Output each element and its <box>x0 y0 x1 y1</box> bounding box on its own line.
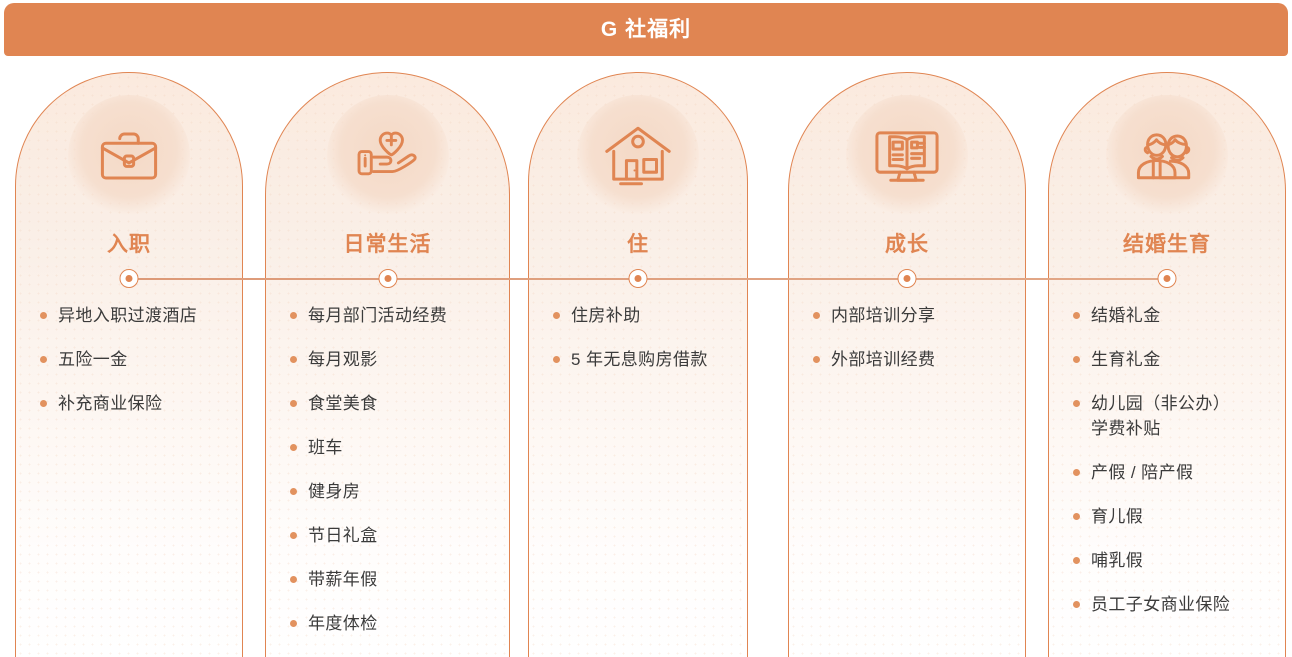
header-banner: G 社福利 <box>4 3 1288 56</box>
bullet-dot-icon <box>1073 356 1080 363</box>
bullet-dot-icon <box>290 576 297 583</box>
list-item: 补充商业保险 <box>36 391 228 416</box>
list-item-label: 年度体检 <box>308 611 378 636</box>
benefit-list-growth: 内部培训分享外部培训经费 <box>789 303 1025 391</box>
hand-heart-care-icon <box>327 95 449 217</box>
list-item-label: 员工子女商业保险 <box>1091 592 1230 617</box>
timeline-node-marriage-parenting <box>1158 269 1177 288</box>
benefit-columns: 入职异地入职过渡酒店五险一金补充商业保险 日常生活每月部门活动经费每月观影食堂美… <box>0 72 1292 657</box>
list-item: 产假 / 陪产假 <box>1069 460 1271 485</box>
page-title: G 社福利 <box>601 19 691 40</box>
bullet-dot-icon <box>553 356 560 363</box>
timeline-node-housing <box>629 269 648 288</box>
list-item: 员工子女商业保险 <box>1069 592 1271 617</box>
bullet-dot-icon <box>290 444 297 451</box>
list-item: 异地入职过渡酒店 <box>36 303 228 328</box>
list-item: 年度体检 <box>286 611 495 636</box>
list-item: 哺乳假 <box>1069 548 1271 573</box>
bullet-dot-icon <box>290 620 297 627</box>
list-item-label: 外部培训经费 <box>831 347 935 372</box>
list-item: 5 年无息购房借款 <box>549 347 733 372</box>
list-item: 节日礼盒 <box>286 523 495 548</box>
list-item-label: 每月观影 <box>308 347 378 372</box>
timeline-connector <box>129 278 1167 280</box>
list-item: 生育礼金 <box>1069 347 1271 372</box>
column-title-growth: 成长 <box>789 228 1025 258</box>
benefit-list-onboarding: 异地入职过渡酒店五险一金补充商业保险 <box>16 303 242 435</box>
bullet-dot-icon <box>1073 601 1080 608</box>
bullet-dot-icon <box>40 312 47 319</box>
timeline-node-onboarding <box>120 269 139 288</box>
list-item: 每月部门活动经费 <box>286 303 495 328</box>
list-item: 外部培训经费 <box>809 347 1011 372</box>
benefit-column-daily-life: 日常生活每月部门活动经费每月观影食堂美食班车健身房节日礼盒带薪年假年度体检 <box>265 72 510 657</box>
benefit-list-housing: 住房补助5 年无息购房借款 <box>529 303 747 391</box>
list-item-label: 食堂美食 <box>308 391 378 416</box>
bullet-dot-icon <box>553 312 560 319</box>
benefit-column-onboarding: 入职异地入职过渡酒店五险一金补充商业保险 <box>15 72 243 657</box>
bullet-dot-icon <box>40 400 47 407</box>
timeline-node-core <box>126 275 133 282</box>
bullet-dot-icon <box>813 356 820 363</box>
bullet-dot-icon <box>290 356 297 363</box>
list-item: 内部培训分享 <box>809 303 1011 328</box>
book-monitor-icon <box>846 95 968 217</box>
bullet-dot-icon <box>1073 513 1080 520</box>
timeline-node-daily-life <box>378 269 397 288</box>
list-item-label: 结婚礼金 <box>1091 303 1161 328</box>
timeline-node-core <box>635 275 642 282</box>
bullet-dot-icon <box>290 532 297 539</box>
list-item-label: 住房补助 <box>571 303 641 328</box>
bullet-dot-icon <box>813 312 820 319</box>
list-item-label: 异地入职过渡酒店 <box>58 303 197 328</box>
bullet-dot-icon <box>1073 312 1080 319</box>
list-item: 班车 <box>286 435 495 460</box>
infographic-page: G 社福利 入职异地入职过渡酒店五险一金补充商业保险 日常生活每月部门活动经费每… <box>0 0 1292 657</box>
benefit-list-marriage-parenting: 结婚礼金生育礼金幼儿园（非公办） 学费补贴产假 / 陪产假育儿假哺乳假员工子女商… <box>1049 303 1285 636</box>
timeline-node-growth <box>898 269 917 288</box>
house-icon <box>577 95 699 217</box>
list-item-label: 5 年无息购房借款 <box>571 347 708 372</box>
list-item-label: 节日礼盒 <box>308 523 378 548</box>
list-item-label: 五险一金 <box>58 347 128 372</box>
list-item-label: 每月部门活动经费 <box>308 303 447 328</box>
list-item-label: 产假 / 陪产假 <box>1091 460 1193 485</box>
bullet-dot-icon <box>1073 400 1080 407</box>
list-item-label: 哺乳假 <box>1091 548 1143 573</box>
column-title-daily-life: 日常生活 <box>266 228 509 258</box>
column-title-housing: 住 <box>529 228 747 258</box>
column-title-marriage-parenting: 结婚生育 <box>1049 228 1285 258</box>
bullet-dot-icon <box>290 488 297 495</box>
column-title-onboarding: 入职 <box>16 228 242 258</box>
list-item: 育儿假 <box>1069 504 1271 529</box>
list-item-label: 班车 <box>308 435 343 460</box>
bullet-dot-icon <box>40 356 47 363</box>
bullet-dot-icon <box>1073 469 1080 476</box>
bullet-dot-icon <box>290 400 297 407</box>
timeline-node-core <box>384 275 391 282</box>
couple-icon <box>1106 95 1228 217</box>
benefit-column-growth: 成长内部培训分享外部培训经费 <box>788 72 1026 657</box>
list-item: 健身房 <box>286 479 495 504</box>
list-item-label: 育儿假 <box>1091 504 1143 529</box>
benefit-column-marriage-parenting: 结婚生育结婚礼金生育礼金幼儿园（非公办） 学费补贴产假 / 陪产假育儿假哺乳假员… <box>1048 72 1286 657</box>
list-item-label: 内部培训分享 <box>831 303 935 328</box>
timeline-node-core <box>1164 275 1171 282</box>
bullet-dot-icon <box>290 312 297 319</box>
list-item: 食堂美食 <box>286 391 495 416</box>
list-item-label: 补充商业保险 <box>58 391 162 416</box>
list-item: 每月观影 <box>286 347 495 372</box>
benefit-column-housing: 住住房补助5 年无息购房借款 <box>528 72 748 657</box>
list-item: 带薪年假 <box>286 567 495 592</box>
list-item: 五险一金 <box>36 347 228 372</box>
list-item-label: 带薪年假 <box>308 567 378 592</box>
list-item-label: 健身房 <box>308 479 360 504</box>
list-item-label: 幼儿园（非公办） 学费补贴 <box>1091 391 1230 441</box>
benefit-list-daily-life: 每月部门活动经费每月观影食堂美食班车健身房节日礼盒带薪年假年度体检 <box>266 303 509 655</box>
list-item: 结婚礼金 <box>1069 303 1271 328</box>
bullet-dot-icon <box>1073 557 1080 564</box>
briefcase-icon <box>68 95 190 217</box>
list-item: 住房补助 <box>549 303 733 328</box>
timeline-node-core <box>904 275 911 282</box>
list-item: 幼儿园（非公办） 学费补贴 <box>1069 391 1271 441</box>
list-item-label: 生育礼金 <box>1091 347 1161 372</box>
